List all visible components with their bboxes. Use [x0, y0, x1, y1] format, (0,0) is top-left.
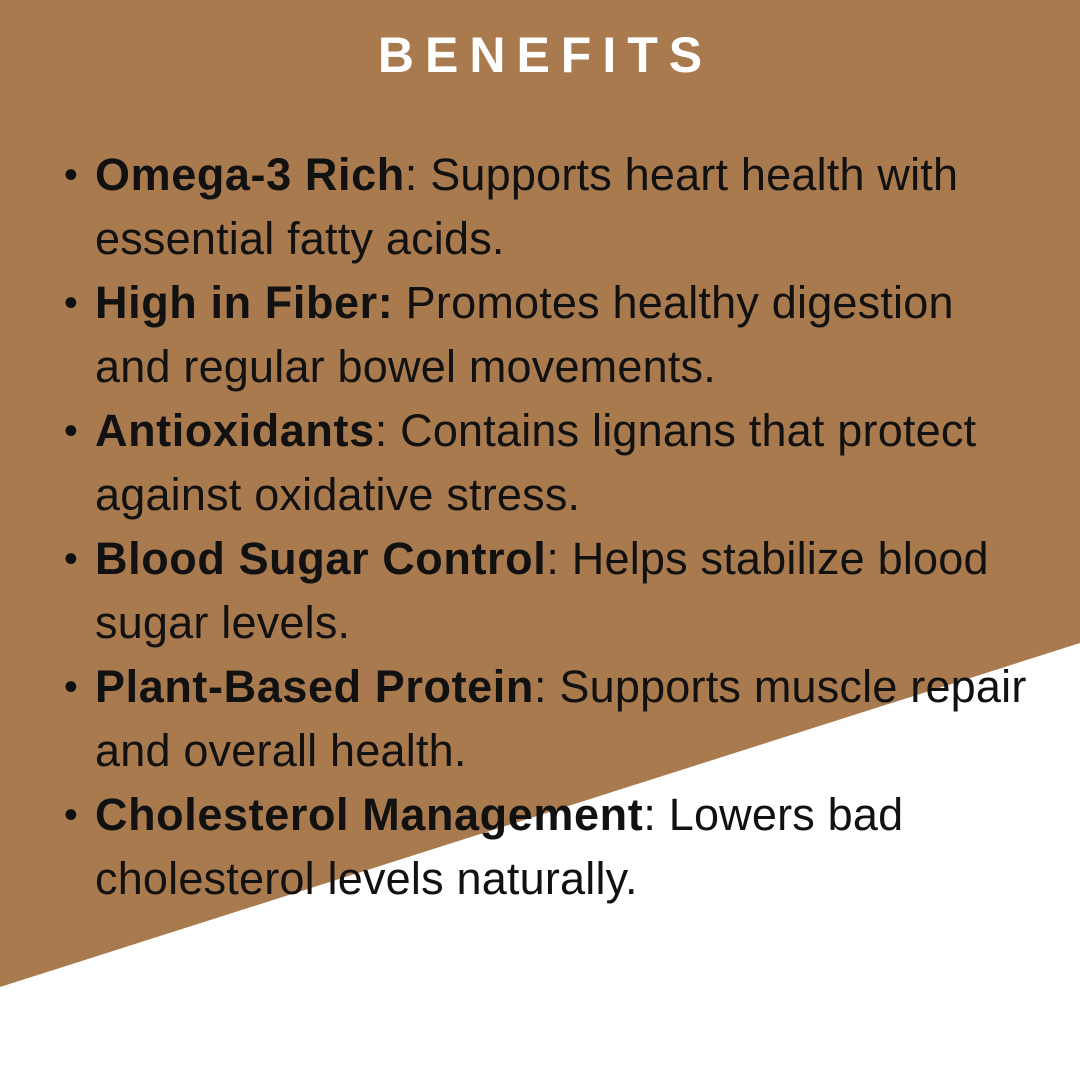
benefit-separator: : — [375, 405, 388, 456]
bullet-icon: • — [60, 271, 82, 335]
benefit-list-item: •Plant-Based Protein: Supports muscle re… — [42, 655, 1042, 783]
benefit-list-item: •High in Fiber: Promotes healthy digesti… — [42, 271, 1042, 399]
benefit-list-item: •Cholesterol Management: Lowers bad chol… — [42, 783, 1042, 911]
benefit-separator: : — [378, 277, 393, 328]
benefit-list-item: •Antioxidants: Contains lignans that pro… — [42, 399, 1042, 527]
benefits-poster: BENEFITS •Omega-3 Rich: Supports heart h… — [0, 0, 1080, 1080]
benefit-term: Cholesterol Management — [95, 789, 643, 840]
benefit-term: Antioxidants — [95, 405, 375, 456]
bullet-icon: • — [60, 527, 82, 591]
benefit-separator: : — [546, 533, 559, 584]
benefit-term: Omega-3 Rich — [95, 149, 405, 200]
benefit-term: Blood Sugar Control — [95, 533, 546, 584]
benefit-list-item: •Omega-3 Rich: Supports heart health wit… — [42, 143, 1042, 271]
benefit-separator: : — [405, 149, 418, 200]
bullet-icon: • — [60, 783, 82, 847]
benefit-separator: : — [643, 789, 656, 840]
page-title: BENEFITS — [0, 26, 1080, 84]
benefit-list-item: •Blood Sugar Control: Helps stabilize bl… — [42, 527, 1042, 655]
poster-content: BENEFITS •Omega-3 Rich: Supports heart h… — [0, 0, 1080, 1080]
bullet-icon: • — [60, 143, 82, 207]
benefit-term: Plant-Based Protein — [95, 661, 534, 712]
bullet-icon: • — [60, 399, 82, 463]
benefit-term: High in Fiber — [95, 277, 378, 328]
benefit-separator: : — [534, 661, 547, 712]
benefits-list: •Omega-3 Rich: Supports heart health wit… — [42, 143, 1042, 911]
bullet-icon: • — [60, 655, 82, 719]
